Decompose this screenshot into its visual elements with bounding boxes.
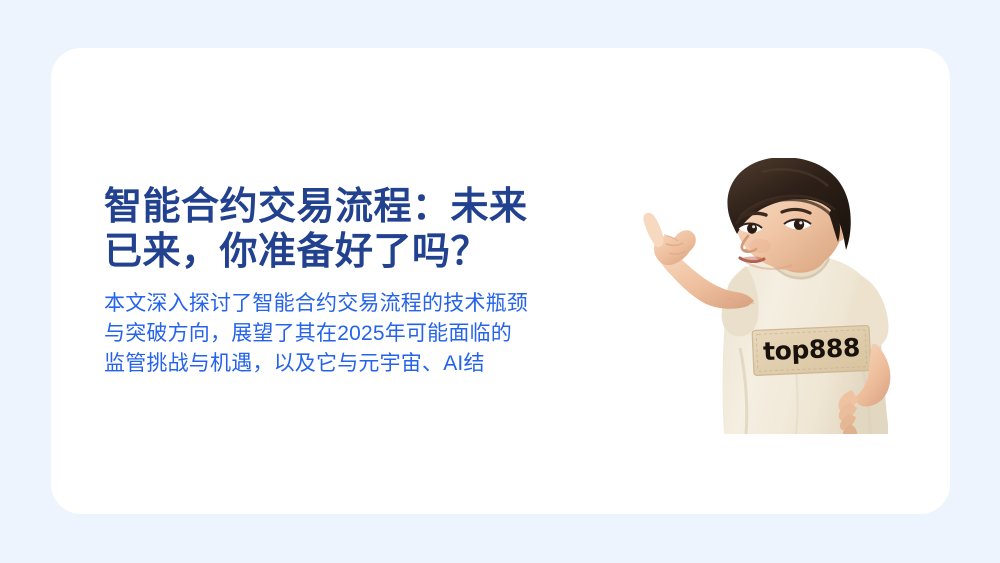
shirt-logo-text: top888 (762, 333, 860, 366)
head-group (727, 158, 850, 270)
card-text-block: 智能合约交易流程：未来 已来，你准备好了吗？ 本文深入探讨了智能合约交易流程的技… (104, 185, 614, 379)
article-card: 智能合约交易流程：未来 已来，你准备好了吗？ 本文深入探讨了智能合约交易流程的技… (51, 48, 950, 514)
shirt-logo-patch: top888 (752, 325, 871, 375)
slide-canvas: 智能合约交易流程：未来 已来，你准备好了吗？ 本文深入探讨了智能合约交易流程的技… (0, 0, 1000, 563)
page-title: 智能合约交易流程：未来 已来，你准备好了吗？ (104, 185, 614, 275)
child-photo: top888 (636, 158, 950, 514)
article-summary: 本文深入探讨了智能合约交易流程的技术瓶颈 与突破方向，展望了其在2025年可能面… (104, 275, 614, 379)
